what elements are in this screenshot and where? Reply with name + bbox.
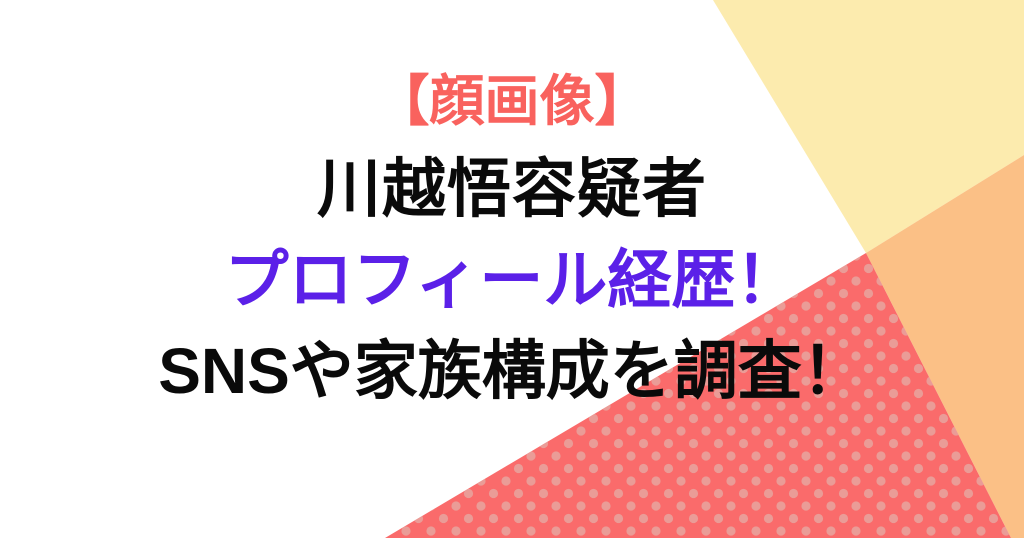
background-graphic	[0, 0, 1024, 538]
thumbnail-canvas: 【顔画像】 川越悟容疑者 プロフィール経歴！ SNSや家族構成を調査！	[0, 0, 1024, 538]
